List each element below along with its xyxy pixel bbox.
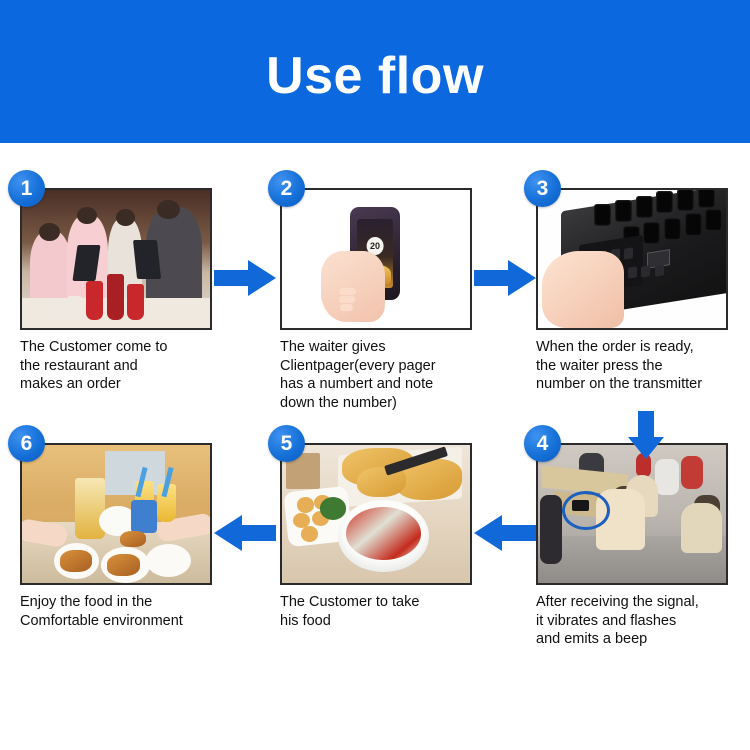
flow-step-1: 1 The Customer come to the restaurant an… <box>6 188 234 394</box>
arrow-step3-to-step4-icon <box>628 411 664 459</box>
step-4-caption: After receiving the signal, it vibrates … <box>536 593 750 649</box>
step-3-caption: When the order is ready, the waiter pres… <box>536 338 750 394</box>
step-6-caption: Enjoy the food in the Comfortable enviro… <box>20 593 236 630</box>
photo-pager-on-restaurant-table <box>536 443 728 585</box>
photo-hand-holding-pager: 20 <box>280 188 472 330</box>
step-2-caption: The waiter gives Clientpager(every pager… <box>280 338 496 412</box>
arrow-step1-to-step2-icon <box>214 260 276 296</box>
flow-step-5: 5 The <box>266 443 494 630</box>
step-1-caption: The Customer come to the restaurant and … <box>20 338 236 394</box>
use-flow-diagram: 1 The Customer come to the restaurant an… <box>0 143 750 750</box>
photo-hand-pressing-transmitter-keypad <box>536 188 728 330</box>
flow-step-3: 3 <box>522 188 750 394</box>
step-4-photo-wrap: 4 <box>536 443 728 585</box>
step-1-photo-wrap: 1 <box>20 188 212 330</box>
photo-customers-at-restaurant-counter <box>20 188 212 330</box>
arrow-step4-to-step5-icon <box>474 515 536 551</box>
arrow-step2-to-step3-icon <box>474 260 536 296</box>
photo-fried-food-platter <box>280 443 472 585</box>
flow-step-6: 6 <box>6 443 234 630</box>
pager-highlight-circle <box>562 491 609 530</box>
flow-step-4: 4 <box>522 443 750 649</box>
step-5-caption: The Customer to take his food <box>280 593 496 630</box>
step-2-number-badge: 2 <box>268 170 305 207</box>
step-3-photo-wrap: 3 <box>536 188 728 330</box>
page-header: Use flow <box>0 0 750 143</box>
step-2-photo-wrap: 2 20 <box>280 188 472 330</box>
step-5-number-badge: 5 <box>268 425 305 462</box>
page-title: Use flow <box>266 50 484 102</box>
flow-step-2: 2 20 The waiter gives Clientpager(every … <box>266 188 494 412</box>
step-1-number-badge: 1 <box>8 170 45 207</box>
step-3-number-badge: 3 <box>524 170 561 207</box>
arrow-step5-to-step6-icon <box>214 515 276 551</box>
step-4-number-badge: 4 <box>524 425 561 462</box>
step-6-number-badge: 6 <box>8 425 45 462</box>
step-6-photo-wrap: 6 <box>20 443 212 585</box>
step-5-photo-wrap: 5 <box>280 443 472 585</box>
photo-friends-toasting-drinks <box>20 443 212 585</box>
